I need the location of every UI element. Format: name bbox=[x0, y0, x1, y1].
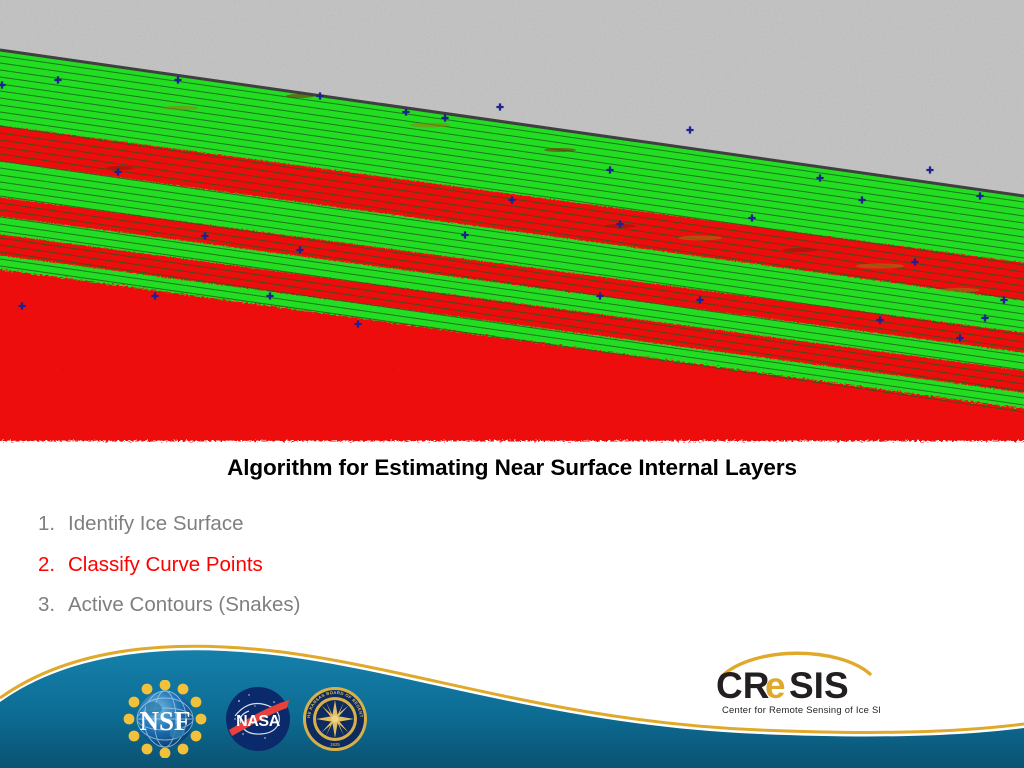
bottom-ragged-edge bbox=[0, 441, 1024, 444]
step-number: 3. bbox=[38, 585, 68, 626]
slide: Algorithm for Estimating Near Surface In… bbox=[0, 0, 1024, 768]
regents-center-dot bbox=[331, 715, 338, 722]
step-label: Identify Ice Surface bbox=[68, 512, 243, 535]
step-label: Classify Curve Points bbox=[68, 553, 263, 576]
nasa-wordmark: NASA bbox=[236, 713, 281, 730]
cresis-logo: CR e SIS Center for Remote Sensing of Ic… bbox=[712, 648, 880, 720]
nsf-wordmark: NSF bbox=[139, 706, 190, 736]
algorithm-step-1: 1.Identify Ice Surface bbox=[38, 504, 738, 545]
cresis-wordmark-part3: SIS bbox=[789, 665, 849, 706]
nasa-logo: NASA bbox=[225, 686, 291, 752]
step-number: 1. bbox=[38, 504, 68, 545]
step-label: Active Contours (Snakes) bbox=[68, 593, 300, 616]
cresis-tagline: Center for Remote Sensing of Ice Sheets bbox=[722, 704, 880, 715]
nsf-logo: NSF bbox=[122, 680, 208, 758]
slide-title: Algorithm for Estimating Near Surface In… bbox=[0, 455, 1024, 481]
algorithm-step-3: 3.Active Contours (Snakes) bbox=[38, 585, 738, 626]
algorithm-steps-list: 1.Identify Ice Surface2.Classify Curve P… bbox=[38, 504, 738, 626]
algorithm-step-2: 2.Classify Curve Points bbox=[38, 545, 738, 586]
cresis-wordmark-accent: e bbox=[765, 665, 786, 706]
regents-logo: THE KANSAS BOARD OF REGENTS 1925 bbox=[302, 686, 368, 752]
radargram-svg bbox=[0, 0, 1024, 444]
cresis-wordmark-part1: CR bbox=[716, 665, 769, 706]
regents-year: 1925 bbox=[330, 742, 340, 747]
radargram-image bbox=[0, 0, 1024, 444]
step-number: 2. bbox=[38, 545, 68, 586]
